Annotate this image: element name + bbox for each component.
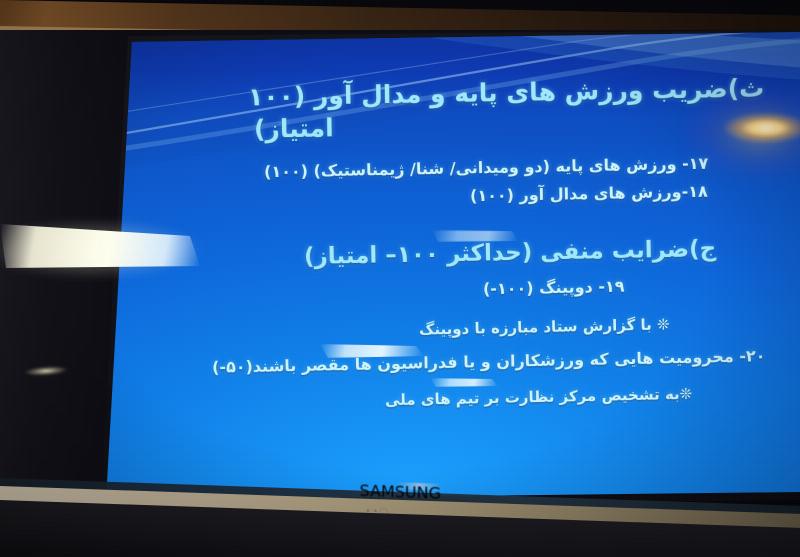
- slide-item-18: ۱۸-ورزش های مدال آور (۱۰۰): [470, 182, 708, 206]
- slide-heading-a-line2: امتیاز): [254, 113, 334, 143]
- slide-item-20: ۲۰- محرومیت هایی که ورزشکاران و یا فدراس…: [212, 346, 766, 377]
- display-screen[interactable]: ث)ضریب ورزش های پایه و مدال آور (۱۰۰ امت…: [92, 30, 800, 508]
- slide-note-2: ❊به تشخیص مرکز نظارت بر تیم های ملی: [385, 385, 693, 409]
- slide-text-layer: ث)ضریب ورزش های پایه و مدال آور (۱۰۰ امت…: [92, 30, 800, 508]
- slide-heading-b: ج)ضرایب منفی (حداکثر ۱۰۰– امتیاز): [304, 236, 717, 270]
- brand-logo: SAMSUNG: [397, 482, 441, 491]
- slide-heading-a-line1: ث)ضریب ورزش های پایه و مدال آور (۱۰۰: [248, 73, 765, 111]
- slide-item-17: ۱۷- ورزش های پایه (دو ومیدانی/ شنا/ ژیمن…: [264, 154, 709, 182]
- slide-item-19: ۱۹- دوپینگ (۱۰۰-): [482, 277, 624, 299]
- slide-note-1: ❊ با گزارش ستاد مبارزه با دوپینگ: [419, 315, 670, 338]
- photo-scene: ث)ضریب ورزش های پایه و مدال آور (۱۰۰ امت…: [0, 0, 800, 557]
- slide-background: ث)ضریب ورزش های پایه و مدال آور (۱۰۰ امت…: [92, 30, 800, 508]
